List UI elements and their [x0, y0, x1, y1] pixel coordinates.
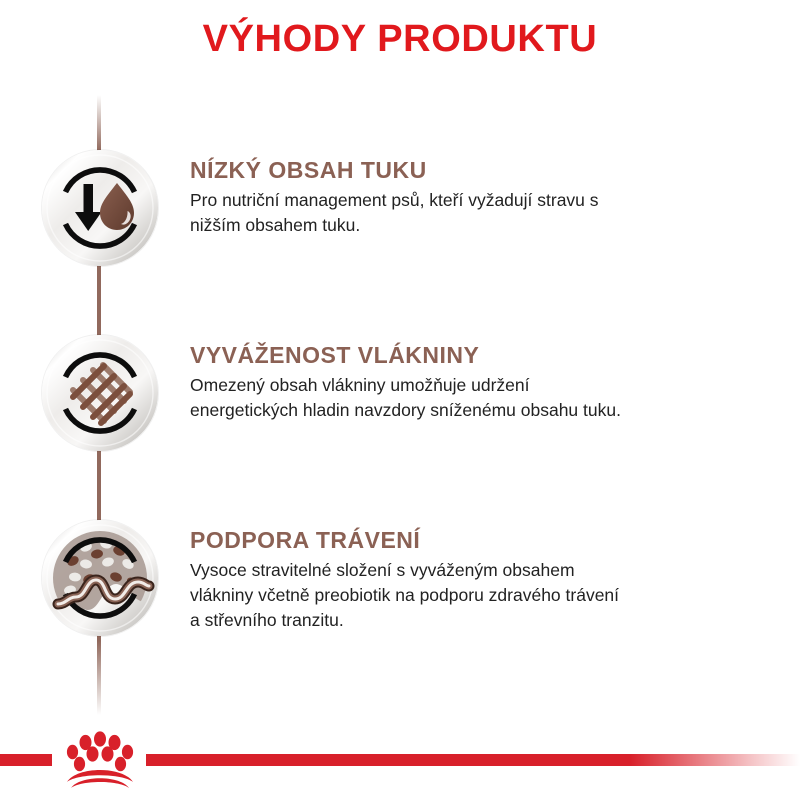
- page-title: VÝHODY PRODUKTU: [0, 18, 800, 61]
- benefit-body: Omezený obsah vlákniny umožňuje udržení …: [190, 373, 790, 423]
- brand-bar-left: [0, 754, 52, 766]
- fat-drop-down-arrow-icon: [42, 150, 158, 266]
- footer-brand-strip: [0, 700, 800, 800]
- benefit-body-line: Omezený obsah vlákniny umožňuje udržení: [190, 373, 790, 398]
- benefit-body-line: vlákniny včetně preobiotik na podporu zd…: [190, 583, 790, 608]
- benefit-body-line: nižším obsahem tuku.: [190, 213, 790, 238]
- benefit-body-line: Pro nutriční management psů, kteří vyžad…: [190, 188, 790, 213]
- benefit-heading: VYVÁŽENOST VLÁKNINY: [190, 343, 790, 368]
- benefit-text: NÍZKÝ OBSAH TUKU Pro nutriční management…: [190, 158, 790, 238]
- fiber-crosshatch-icon: [42, 335, 158, 451]
- royal-canin-crown-logo: [52, 728, 148, 790]
- benefit-body-line: Vysoce stravitelné složení s vyváženým o…: [190, 558, 790, 583]
- benefit-body-line: a střevního tranzitu.: [190, 608, 790, 633]
- brand-bar-right: [146, 754, 800, 766]
- digestive-tract-icon: [42, 520, 158, 636]
- benefit-text: VYVÁŽENOST VLÁKNINY Omezený obsah vlákni…: [190, 343, 790, 423]
- benefit-heading: PODPORA TRÁVENÍ: [190, 528, 790, 553]
- benefit-heading: NÍZKÝ OBSAH TUKU: [190, 158, 790, 183]
- benefit-body-line: energetických hladin navzdory sníženému …: [190, 398, 790, 423]
- benefit-body: Pro nutriční management psů, kteří vyžad…: [190, 188, 790, 238]
- benefit-text: PODPORA TRÁVENÍ Vysoce stravitelné slože…: [190, 528, 790, 633]
- product-benefits-page: VÝHODY PRODUKTU: [0, 0, 800, 800]
- benefit-body: Vysoce stravitelné složení s vyváženým o…: [190, 558, 790, 633]
